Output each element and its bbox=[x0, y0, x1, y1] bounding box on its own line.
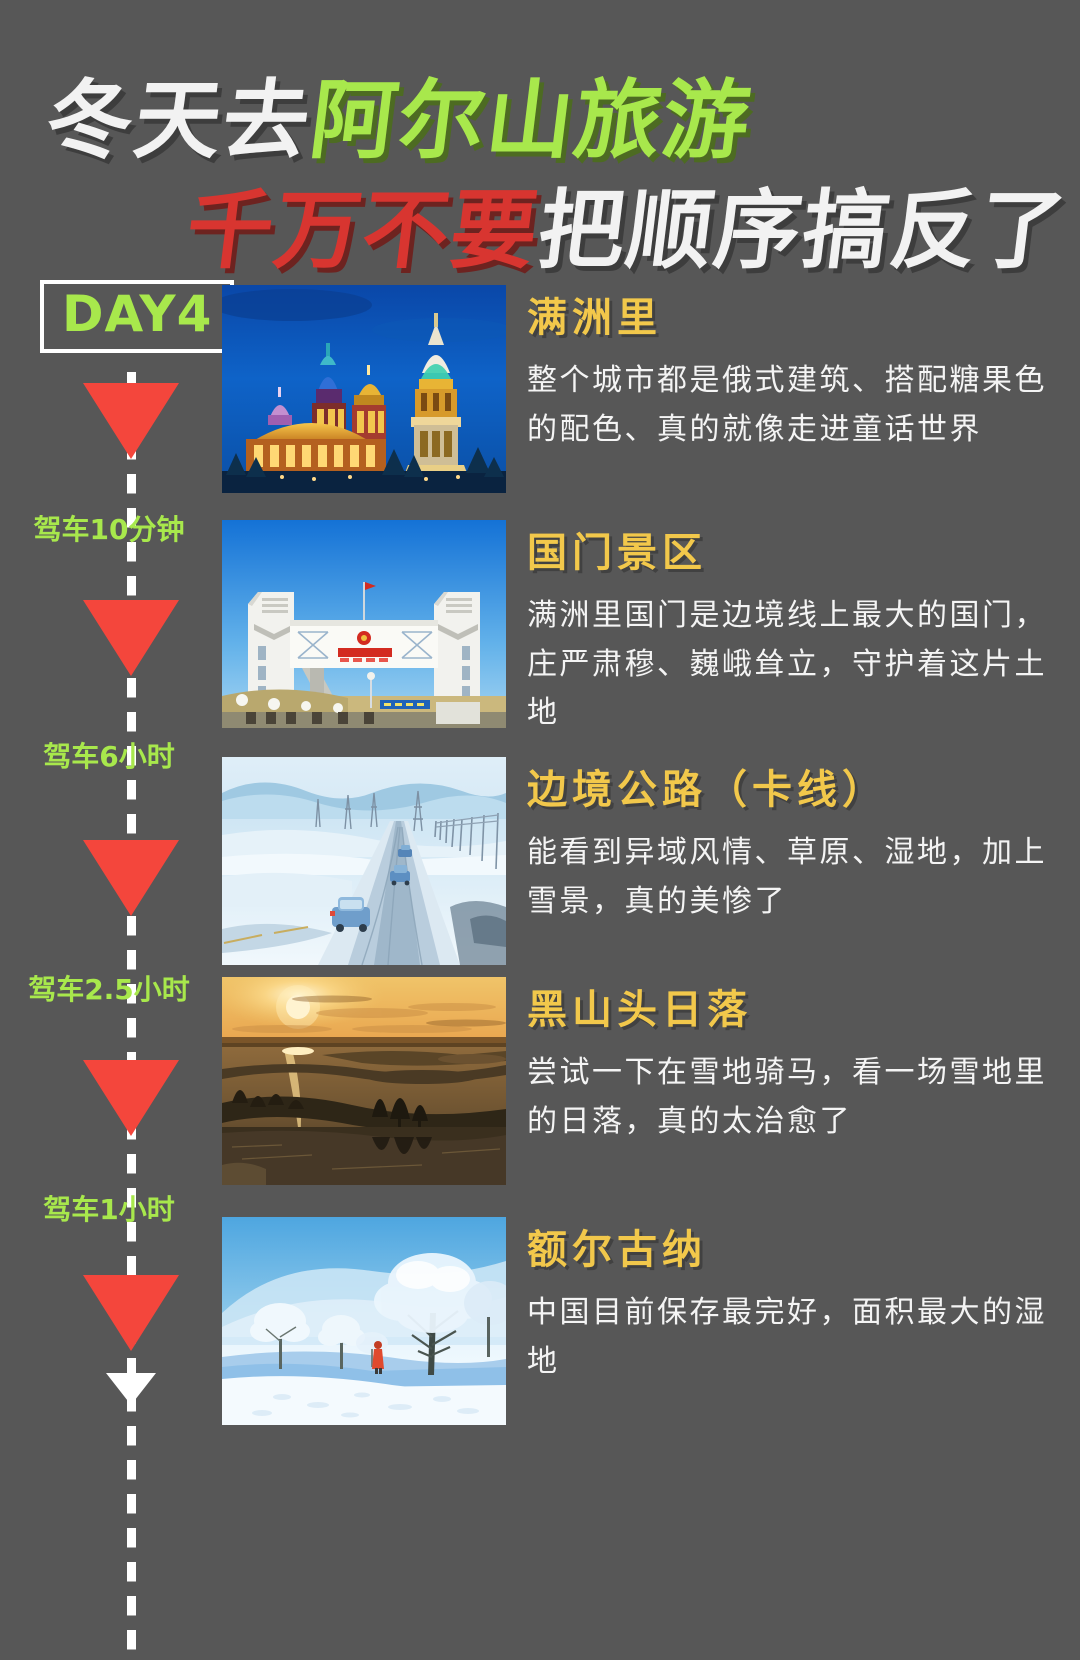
section-copy-5: 额尔古纳 中国目前保存最完好，面积最大的湿地 bbox=[527, 1217, 1052, 1386]
timeline: DAY4 驾车10分钟 驾车6小时 驾车2.5小时 驾车1小时 bbox=[0, 280, 218, 1440]
section-body-2: 满洲里国门是边境线上最大的国门，庄严肃穆、巍峨耸立，守护着这片土地 bbox=[527, 592, 1052, 738]
timeline-label-2: 驾车6小时 bbox=[0, 735, 218, 775]
thumbnail-manzhouli-russian-church-night bbox=[222, 285, 506, 493]
poster-root: 冬天去阿尔山旅游 千万不要把顺序搞反了 DAY4 驾车10分钟 驾车6小时 驾车… bbox=[0, 0, 1080, 1440]
timeline-label-4: 驾车1小时 bbox=[0, 1188, 218, 1228]
section-title-1: 满洲里 bbox=[527, 285, 1052, 343]
thumbnail-heishantou-river-sunset bbox=[222, 977, 506, 1185]
timeline-arrow-1 bbox=[83, 383, 179, 459]
title-line-2-red: 千万不要 bbox=[181, 181, 545, 281]
section-copy-2: 国门景区 满洲里国门是边境线上最大的国门，庄严肃穆、巍峨耸立，守护着这片土地 bbox=[527, 520, 1052, 738]
title-line-1-green: 阿尔山旅游 bbox=[305, 71, 757, 171]
section-title-4: 黑山头日落 bbox=[527, 977, 1052, 1035]
title-line-1: 冬天去阿尔山旅游 bbox=[40, 50, 759, 175]
section-body-1: 整个城市都是俄式建筑、搭配糖果色的配色、真的就像走进童话世界 bbox=[527, 357, 1052, 454]
title-line-2: 千万不要把顺序搞反了 bbox=[180, 160, 1075, 285]
day-badge: DAY4 bbox=[40, 280, 234, 353]
section-body-3: 能看到异域风情、草原、湿地，加上雪景，真的美惨了 bbox=[527, 829, 1052, 926]
thumbnail-snowy-border-highway-cars bbox=[222, 757, 506, 965]
section-title-5: 额尔古纳 bbox=[527, 1217, 1052, 1275]
section-body-5: 中国目前保存最完好，面积最大的湿地 bbox=[527, 1289, 1052, 1386]
timeline-dashed-line bbox=[127, 372, 136, 1660]
section-title-3: 边境公路（卡线） bbox=[527, 757, 1052, 815]
thumbnail-ergun-frosted-winter-trees bbox=[222, 1217, 506, 1425]
title-line-1-white: 冬天去 bbox=[41, 71, 317, 171]
timeline-end-arrow-icon bbox=[106, 1373, 156, 1405]
section-title-2: 国门景区 bbox=[527, 520, 1052, 578]
timeline-label-3: 驾车2.5小时 bbox=[0, 968, 218, 1008]
timeline-arrow-2 bbox=[83, 600, 179, 676]
timeline-arrow-5 bbox=[83, 1275, 179, 1351]
title-line-2-white: 把顺序搞反了 bbox=[533, 181, 1073, 281]
section-copy-3: 边境公路（卡线） 能看到异域风情、草原、湿地，加上雪景，真的美惨了 bbox=[527, 757, 1052, 926]
section-copy-1: 满洲里 整个城市都是俄式建筑、搭配糖果色的配色、真的就像走进童话世界 bbox=[527, 285, 1052, 454]
thumbnail-national-gate-scenic-area bbox=[222, 520, 506, 728]
section-copy-4: 黑山头日落 尝试一下在雪地骑马，看一场雪地里的日落，真的太治愈了 bbox=[527, 977, 1052, 1146]
timeline-arrow-3 bbox=[83, 840, 179, 916]
timeline-arrow-4 bbox=[83, 1060, 179, 1136]
section-body-4: 尝试一下在雪地骑马，看一场雪地里的日落，真的太治愈了 bbox=[527, 1049, 1052, 1146]
timeline-label-1: 驾车10分钟 bbox=[0, 508, 218, 548]
poster-title: 冬天去阿尔山旅游 千万不要把顺序搞反了 bbox=[0, 0, 1080, 268]
